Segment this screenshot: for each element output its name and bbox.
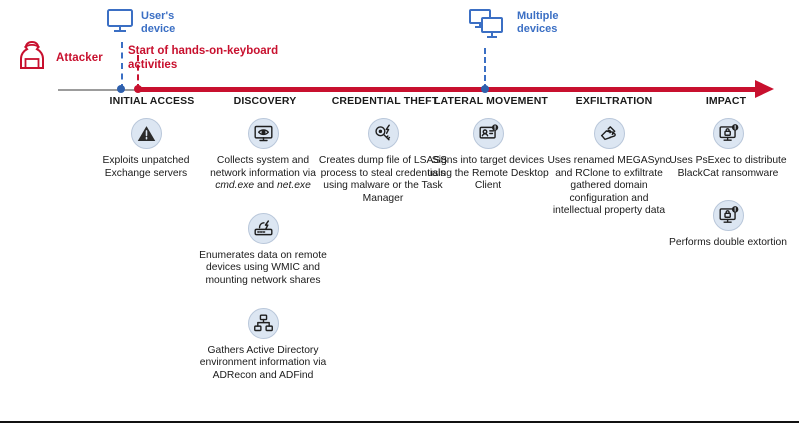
attack-chain-diagram: Attacker User's device Multiple devices [0, 0, 799, 429]
timeline-axis-pre [58, 89, 138, 91]
multiple-devices-label-line2: devices [517, 23, 557, 35]
user-device-label: User's device [141, 8, 175, 36]
attacker-label: Attacker [56, 52, 103, 64]
multiple-devices-label-line1: Multiple [517, 10, 559, 22]
column-initial-access: Exploits unpatched Exchange servers [81, 118, 211, 180]
step-description: Gathers Active Directory environment inf… [198, 345, 328, 383]
timeline-axis [136, 87, 761, 92]
locked-monitor-alert-icon [713, 118, 744, 149]
step-discovery-1: Collects system and network information … [198, 118, 328, 193]
user-device-label-line1: User's [141, 10, 174, 22]
locked-monitor-alert-icon [713, 200, 744, 231]
step-description: Collects system and network information … [198, 155, 328, 193]
monitor-eye-icon [248, 118, 279, 149]
step-description: Exploits unpatched Exchange servers [81, 155, 211, 180]
timeline-arrowhead-icon [755, 80, 774, 98]
hands-on-keyboard-callout: Start of hands-on-keyboard activities [128, 45, 278, 72]
hand-grab-files-icon [594, 118, 625, 149]
attacker-group: Attacker [14, 38, 103, 77]
footer-divider [0, 421, 799, 423]
user-device-connector [121, 42, 123, 90]
user-device-label-line2: device [141, 23, 175, 35]
network-tree-icon [248, 308, 279, 339]
step-discovery-2: Enumerates data on remote devices using … [198, 213, 328, 288]
step-description: Uses PsExec to distribute BlackCat ranso… [663, 155, 793, 180]
step-discovery-3: Gathers Active Directory environment inf… [198, 308, 328, 383]
column-discovery: Collects system and network information … [198, 118, 328, 382]
multiple-devices-connector [484, 48, 486, 90]
step-initial-access-1: Exploits unpatched Exchange servers [81, 118, 211, 180]
step-description: Uses renamed MEGASync and RClone to exfi… [544, 155, 674, 218]
step-description: Performs double extortion [669, 237, 787, 250]
column-lateral-movement: Signs into target devices using the Remo… [423, 118, 553, 193]
column-exfiltration: Uses renamed MEGASync and RClone to exfi… [544, 118, 674, 218]
user-device-group: User's device [106, 8, 175, 39]
step-impact-2: Performs double extortion [663, 200, 793, 250]
column-impact: Uses PsExec to distribute BlackCat ranso… [663, 118, 793, 250]
step-description: Signs into target devices using the Remo… [423, 155, 553, 193]
callout-line1: Start of hands-on-keyboard [128, 45, 278, 57]
multiple-devices-group: Multiple devices [468, 8, 559, 47]
stage-label-discovery: DISCOVERY [234, 95, 297, 107]
callout-line2: activities [128, 59, 177, 71]
step-description: Enumerates data on remote devices using … [198, 250, 328, 288]
id-card-alert-icon [473, 118, 504, 149]
stage-label-exfiltration: EXFILTRATION [576, 95, 653, 107]
multiple-monitors-icon [468, 8, 510, 47]
stage-label-impact: IMPACT [706, 95, 746, 107]
stage-label-lateral-movement: LATERAL MOVEMENT [434, 95, 548, 107]
key-bolt-icon [368, 118, 399, 149]
monitor-icon [106, 8, 134, 39]
router-bolt-icon [248, 213, 279, 244]
step-lateral-movement-1: Signs into target devices using the Remo… [423, 118, 553, 193]
warning-triangle-icon [131, 118, 162, 149]
stage-label-initial-access: INITIAL ACCESS [110, 95, 195, 107]
multiple-devices-label: Multiple devices [517, 8, 559, 36]
stage-label-credential-theft: CREDENTIAL THEFT [332, 95, 439, 107]
step-exfiltration-1: Uses renamed MEGASync and RClone to exfi… [544, 118, 674, 218]
step-impact-1: Uses PsExec to distribute BlackCat ranso… [663, 118, 793, 180]
timeline-node-lateral-movement [481, 85, 489, 93]
timeline-node-hands-on-keyboard [134, 85, 142, 93]
attacker-hooded-figure-icon [14, 38, 50, 77]
timeline-node-initial-access [117, 85, 125, 93]
